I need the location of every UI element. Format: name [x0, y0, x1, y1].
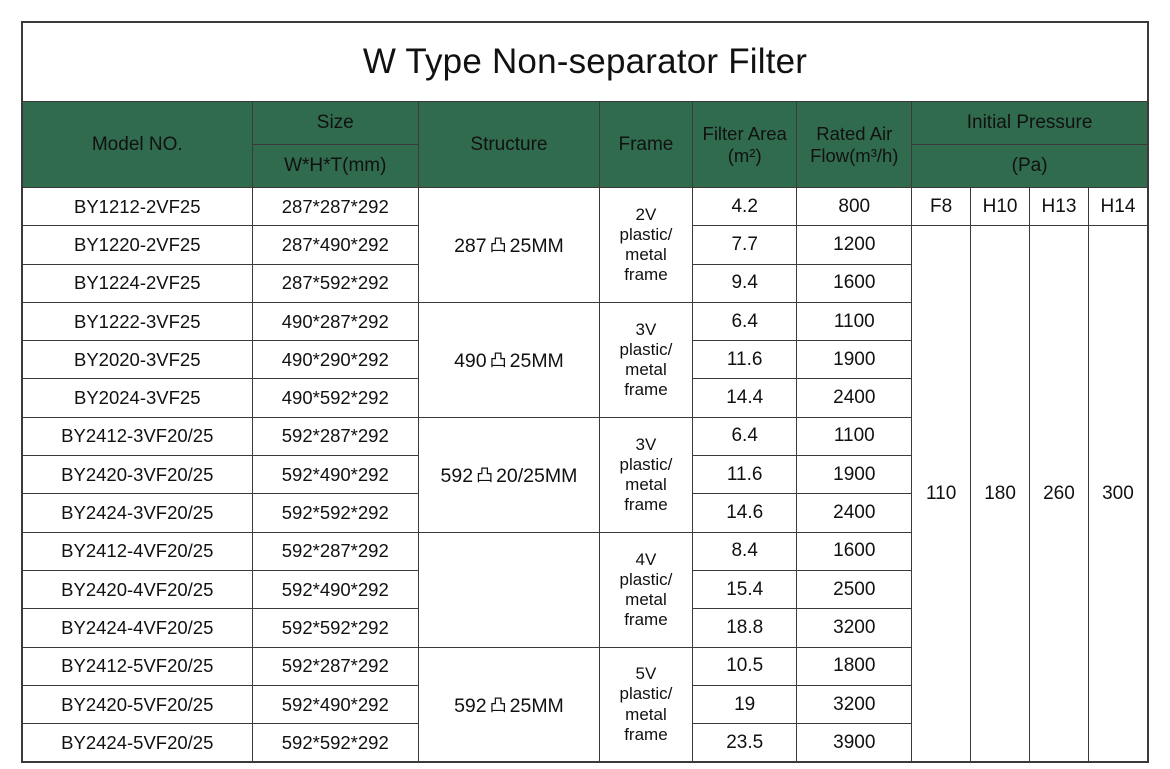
frame-line3: metal — [600, 590, 692, 610]
cell-frame: 4Vplastic/metalframe — [599, 532, 692, 647]
cell-rated-air-flow: 1100 — [797, 417, 912, 455]
frame-line2: plastic/ — [600, 570, 692, 590]
cell-frame: 3Vplastic/metalframe — [599, 302, 692, 417]
cell-model-no: BY2412-3VF20/25 — [23, 417, 253, 455]
cell-rated-air-flow: 1600 — [797, 532, 912, 570]
cell-filter-area: 14.4 — [692, 379, 796, 417]
cell-structure — [418, 532, 599, 647]
filter-area-line1: Filter Area — [703, 123, 787, 144]
cell-pressure-grade-f8: F8 — [912, 188, 971, 226]
cell-frame: 5Vplastic/metalframe — [599, 647, 692, 762]
col-header-initial-pressure-unit: (Pa) — [912, 145, 1148, 188]
page-root: W Type Non-separator Filter Model NO. Si… — [0, 0, 1170, 769]
cell-filter-area: 14.6 — [692, 494, 796, 532]
cell-model-no: BY2420-4VF20/25 — [23, 570, 253, 608]
cell-filter-area: 9.4 — [692, 264, 796, 302]
cell-rated-air-flow: 1800 — [797, 647, 912, 685]
cell-pressure-grade-h13: H13 — [1030, 188, 1089, 226]
structure-prefix: 287 — [454, 235, 487, 257]
cell-size: 592*490*292 — [252, 685, 418, 723]
frame-type: 3V — [600, 435, 692, 455]
cell-size: 490*290*292 — [252, 341, 418, 379]
cell-model-no: BY1220-2VF25 — [23, 226, 253, 264]
cell-size: 592*490*292 — [252, 570, 418, 608]
col-header-size: Size — [252, 102, 418, 145]
cell-filter-area: 6.4 — [692, 302, 796, 340]
cell-rated-air-flow: 1900 — [797, 456, 912, 494]
structure-prefix: 592 — [441, 465, 474, 487]
cell-pressure-value-h14: 300 — [1088, 226, 1147, 762]
frame-line2: plastic/ — [600, 455, 692, 475]
frame-line4: frame — [600, 380, 692, 400]
structure-suffix: 25MM — [510, 350, 564, 372]
cell-structure: 592凸25MM — [418, 647, 599, 762]
cell-size: 287*490*292 — [252, 226, 418, 264]
cell-rated-air-flow: 3200 — [797, 685, 912, 723]
cell-model-no: BY2424-5VF20/25 — [23, 724, 253, 762]
frame-type: 2V — [600, 205, 692, 225]
cell-filter-area: 15.4 — [692, 570, 796, 608]
filter-specification-table: W Type Non-separator Filter Model NO. Si… — [22, 22, 1148, 762]
cell-model-no: BY1224-2VF25 — [23, 264, 253, 302]
structure-prefix: 592 — [454, 695, 487, 717]
cell-filter-area: 18.8 — [692, 609, 796, 647]
cell-pressure-grade-h14: H14 — [1088, 188, 1147, 226]
filter-area-line2: (m²) — [693, 145, 796, 166]
cell-model-no: BY2412-4VF20/25 — [23, 532, 253, 570]
cell-rated-air-flow: 1600 — [797, 264, 912, 302]
frame-type: 3V — [600, 320, 692, 340]
cell-model-no: BY2024-3VF25 — [23, 379, 253, 417]
cell-rated-air-flow: 1200 — [797, 226, 912, 264]
frame-line4: frame — [600, 265, 692, 285]
frame-line4: frame — [600, 495, 692, 515]
cell-pressure-value-f8: 110 — [912, 226, 971, 762]
cell-pressure-value-h10: 180 — [971, 226, 1030, 762]
cell-size: 490*287*292 — [252, 302, 418, 340]
cell-pressure-value-h13: 260 — [1030, 226, 1089, 762]
cell-filter-area: 11.6 — [692, 341, 796, 379]
cell-pressure-grade-h10: H10 — [971, 188, 1030, 226]
cell-size: 287*287*292 — [252, 188, 418, 226]
col-header-structure: Structure — [418, 102, 599, 188]
convex-symbol-icon: 凸 — [487, 691, 510, 716]
structure-suffix: 25MM — [510, 695, 564, 717]
col-header-initial-pressure: Initial Pressure — [912, 102, 1148, 145]
cell-model-no: BY1212-2VF25 — [23, 188, 253, 226]
col-header-size-units: W*H*T(mm) — [252, 145, 418, 188]
table-row: BY1212-2VF25287*287*292287凸25MM2Vplastic… — [23, 188, 1148, 226]
frame-line4: frame — [600, 725, 692, 745]
cell-model-no: BY2420-5VF20/25 — [23, 685, 253, 723]
frame-type: 4V — [600, 550, 692, 570]
cell-size: 287*592*292 — [252, 264, 418, 302]
frame-line2: plastic/ — [600, 225, 692, 245]
cell-rated-air-flow: 3200 — [797, 609, 912, 647]
cell-filter-area: 23.5 — [692, 724, 796, 762]
cell-size: 592*592*292 — [252, 494, 418, 532]
cell-rated-air-flow: 2400 — [797, 494, 912, 532]
cell-filter-area: 8.4 — [692, 532, 796, 570]
frame-line4: frame — [600, 610, 692, 630]
col-header-frame: Frame — [599, 102, 692, 188]
frame-line3: metal — [600, 360, 692, 380]
cell-frame: 2Vplastic/metalframe — [599, 188, 692, 303]
convex-symbol-icon: 凸 — [487, 231, 510, 256]
frame-line2: plastic/ — [600, 684, 692, 704]
cell-rated-air-flow: 2400 — [797, 379, 912, 417]
cell-filter-area: 6.4 — [692, 417, 796, 455]
table-body: W Type Non-separator Filter Model NO. Si… — [23, 23, 1148, 762]
cell-model-no: BY2412-5VF20/25 — [23, 647, 253, 685]
cell-structure: 592凸20/25MM — [418, 417, 599, 532]
structure-prefix: 490 — [454, 350, 487, 372]
cell-size: 592*287*292 — [252, 647, 418, 685]
cell-size: 592*592*292 — [252, 609, 418, 647]
frame-line3: metal — [600, 245, 692, 265]
page-title: W Type Non-separator Filter — [23, 23, 1148, 102]
cell-size: 592*287*292 — [252, 532, 418, 570]
cell-model-no: BY2420-3VF20/25 — [23, 456, 253, 494]
cell-filter-area: 10.5 — [692, 647, 796, 685]
cell-model-no: BY1222-3VF25 — [23, 302, 253, 340]
frame-line2: plastic/ — [600, 340, 692, 360]
cell-model-no: BY2020-3VF25 — [23, 341, 253, 379]
air-flow-line1: Rated Air — [816, 123, 892, 144]
cell-model-no: BY2424-3VF20/25 — [23, 494, 253, 532]
structure-suffix: 25MM — [510, 235, 564, 257]
col-header-filter-area: Filter Area(m²) — [692, 102, 796, 188]
title-row: W Type Non-separator Filter — [23, 23, 1148, 102]
convex-symbol-icon: 凸 — [487, 346, 510, 371]
cell-filter-area: 11.6 — [692, 456, 796, 494]
cell-model-no: BY2424-4VF20/25 — [23, 609, 253, 647]
frame-type: 5V — [600, 664, 692, 684]
cell-size: 592*490*292 — [252, 456, 418, 494]
cell-filter-area: 19 — [692, 685, 796, 723]
col-header-rated-air-flow: Rated AirFlow(m³/h) — [797, 102, 912, 188]
cell-structure: 490凸25MM — [418, 302, 599, 417]
cell-rated-air-flow: 2500 — [797, 570, 912, 608]
header-row-1: Model NO. Size Structure Frame Filter Ar… — [23, 102, 1148, 145]
structure-suffix: 20/25MM — [496, 465, 577, 487]
air-flow-line2: Flow(m³/h) — [797, 145, 911, 166]
cell-frame: 3Vplastic/metalframe — [599, 417, 692, 532]
cell-filter-area: 4.2 — [692, 188, 796, 226]
cell-rated-air-flow: 800 — [797, 188, 912, 226]
col-header-model-no: Model NO. — [23, 102, 253, 188]
cell-rated-air-flow: 1900 — [797, 341, 912, 379]
cell-rated-air-flow: 3900 — [797, 724, 912, 762]
cell-size: 490*592*292 — [252, 379, 418, 417]
cell-size: 592*287*292 — [252, 417, 418, 455]
cell-filter-area: 7.7 — [692, 226, 796, 264]
frame-line3: metal — [600, 475, 692, 495]
cell-structure: 287凸25MM — [418, 188, 599, 303]
cell-size: 592*592*292 — [252, 724, 418, 762]
convex-symbol-icon: 凸 — [473, 461, 496, 486]
frame-line3: metal — [600, 705, 692, 725]
cell-rated-air-flow: 1100 — [797, 302, 912, 340]
